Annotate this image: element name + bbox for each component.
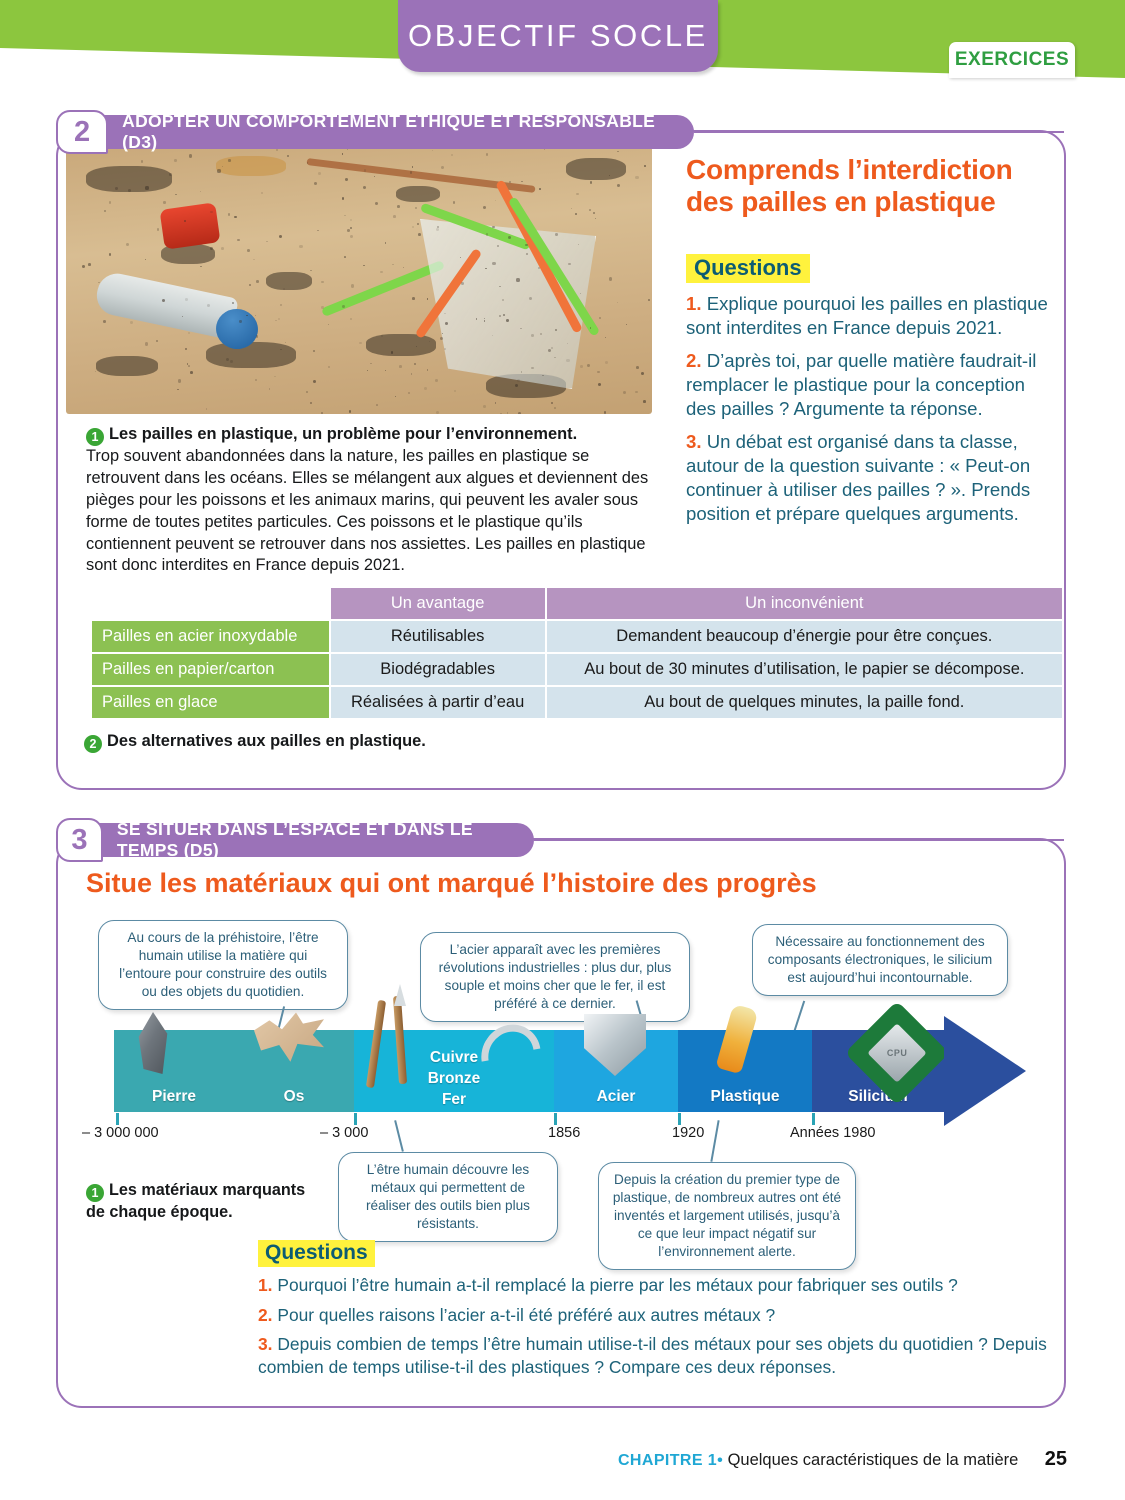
sand-speck xyxy=(427,298,429,300)
sand-speck xyxy=(206,408,207,409)
sand-speck xyxy=(126,243,129,246)
sand-speck xyxy=(508,236,511,239)
main-title-line-1: Comprends l’interdiction xyxy=(686,154,1013,185)
timeline-tick-3 xyxy=(554,1113,557,1125)
exercise-2-right-column: Comprends l’interdiction des pailles en … xyxy=(686,154,1056,535)
bubble-tail-3 xyxy=(793,1001,805,1034)
sand-speck xyxy=(554,407,556,409)
sand-speck xyxy=(587,364,590,367)
sand-speck xyxy=(349,410,351,412)
debris-3 xyxy=(566,158,626,180)
sand-speck xyxy=(363,265,364,266)
row-label: Pailles en papier/carton xyxy=(92,654,329,685)
sand-speck xyxy=(200,191,201,192)
bubble-acier: L’acier apparaît avec les premières révo… xyxy=(420,932,690,1022)
segment-label: Fer xyxy=(442,1091,466,1112)
segment-label: Os xyxy=(284,1088,305,1112)
sand-speck xyxy=(521,181,522,182)
stone-icon xyxy=(136,1012,170,1074)
debris-2 xyxy=(216,156,286,176)
row-avantage: Biodégradables xyxy=(331,654,545,685)
question-number: 3. xyxy=(686,431,702,452)
doc-number-badge: 2 xyxy=(84,735,102,753)
sand-speck xyxy=(380,271,383,274)
sand-speck xyxy=(635,391,638,394)
exercise-2-title: ADOPTER UN COMPORTEMENT ÉTHIQUE ET RESPO… xyxy=(122,111,674,153)
timeline-segment-acier: Acier xyxy=(554,1030,678,1112)
question-text: Depuis combien de temps l’être humain ut… xyxy=(258,1334,1047,1377)
sand-speck xyxy=(109,201,111,203)
sand-speck xyxy=(444,313,446,315)
sand-speck xyxy=(539,188,541,190)
sand-speck xyxy=(317,230,318,231)
sand-speck xyxy=(500,413,501,414)
sand-speck xyxy=(200,266,202,268)
sand-speck xyxy=(495,200,496,201)
sand-speck xyxy=(299,245,302,248)
sand-speck xyxy=(217,169,220,172)
exercise-3-title-pill: SE SITUER DANS L’ESPACE ET DANS LE TEMPS… xyxy=(95,823,534,857)
sand-speck xyxy=(410,171,412,173)
table-header-avantage: Un avantage xyxy=(331,588,545,619)
sand-speck xyxy=(551,402,553,404)
sand-speck xyxy=(306,391,308,393)
sand-speck xyxy=(279,235,282,238)
sand-speck xyxy=(595,218,596,219)
sand-speck xyxy=(648,299,650,301)
sand-speck xyxy=(210,247,213,250)
sand-speck xyxy=(393,215,396,218)
sand-speck xyxy=(623,391,626,394)
segment-label: Acier xyxy=(597,1088,636,1112)
sand-speck xyxy=(104,210,107,213)
sand-speck xyxy=(440,337,443,340)
sand-speck xyxy=(344,256,346,258)
timeline-tick-4 xyxy=(678,1113,681,1125)
sand-speck xyxy=(424,387,427,390)
sand-speck xyxy=(256,335,259,338)
sand-speck xyxy=(314,182,317,185)
sand-speck xyxy=(222,166,223,167)
top-banner: OBJECTIF SOCLE EXERCICES xyxy=(0,0,1125,92)
sand-speck xyxy=(156,340,158,342)
doc1-line-1: Les matériaux marquants xyxy=(109,1181,305,1199)
doc1-lead: Les pailles en plastique, un problème po… xyxy=(109,425,577,443)
doc1-line-2: de chaque époque. xyxy=(86,1203,233,1221)
timeline-tick-2 xyxy=(354,1113,357,1125)
sand-speck xyxy=(414,363,416,365)
sand-speck xyxy=(555,233,558,236)
exercise-3-header-rule xyxy=(534,839,1064,842)
sand-speck xyxy=(507,412,509,414)
sand-speck xyxy=(441,166,444,169)
sand-speck xyxy=(239,320,241,322)
sand-speck xyxy=(436,411,439,414)
timeline-date-3: 1856 xyxy=(548,1125,580,1141)
question-number: 2. xyxy=(686,350,702,371)
sand-speck xyxy=(307,162,308,163)
sand-speck xyxy=(486,153,489,156)
exercise-3-questions-block: Questions 1. Pourquoi l’être humain a-t-… xyxy=(258,1240,1048,1386)
question-number: 1. xyxy=(258,1275,273,1295)
sand-speck xyxy=(255,379,257,381)
sand-speck xyxy=(185,348,186,349)
sand-speck xyxy=(483,405,486,408)
question-number: 1. xyxy=(686,293,702,314)
sand-speck xyxy=(427,369,429,371)
sand-speck xyxy=(580,365,583,368)
sand-speck xyxy=(350,235,353,238)
sand-speck xyxy=(391,351,394,354)
sand-speck xyxy=(590,181,592,183)
green-straw-1 xyxy=(321,260,445,317)
sand-speck xyxy=(157,228,159,230)
sand-speck xyxy=(318,172,321,175)
sand-speck xyxy=(237,239,240,242)
sand-speck xyxy=(359,342,361,344)
sand-speck xyxy=(321,281,323,283)
sand-speck xyxy=(175,194,176,195)
sand-speck xyxy=(604,411,606,413)
footer-chapter: CHAPITRE 1 xyxy=(618,1452,717,1469)
sand-speck xyxy=(495,402,497,404)
questions-label-2: Questions xyxy=(686,254,810,283)
sand-speck xyxy=(328,324,329,325)
sand-speck xyxy=(617,302,618,303)
red-bottle-cap xyxy=(159,202,220,249)
sand-speck xyxy=(342,197,344,199)
bone-icon xyxy=(254,1008,324,1064)
question-item: 1. Explique pourquoi les pailles en plas… xyxy=(686,292,1056,340)
sand-speck xyxy=(109,253,111,255)
sand-speck xyxy=(566,359,569,362)
sand-speck xyxy=(499,286,500,287)
sand-speck xyxy=(605,361,608,364)
sand-speck xyxy=(185,298,188,301)
sand-speck xyxy=(392,264,393,265)
sand-speck xyxy=(287,155,289,157)
table-header-inconvenient: Un inconvénient xyxy=(547,588,1062,619)
bubble-metaux: L’être humain découvre les métaux qui pe… xyxy=(338,1152,558,1242)
spear-icon xyxy=(366,1000,386,1088)
sand-speck xyxy=(280,304,282,306)
exercise-3-questions: 1. Pourquoi l’être humain a-t-il remplac… xyxy=(258,1274,1048,1379)
bubble-prehistoire: Au cours de la préhistoire, l’être humai… xyxy=(98,920,348,1010)
sand-speck xyxy=(347,229,350,232)
debris-8 xyxy=(96,356,158,376)
sand-speck xyxy=(518,412,521,414)
table-row: Pailles en glace Réalisées à partir d’ea… xyxy=(92,687,1062,718)
sand-speck xyxy=(503,314,505,316)
main-title-line-2: des pailles en plastique xyxy=(686,186,996,217)
sand-speck xyxy=(221,247,224,250)
sand-speck xyxy=(397,205,400,208)
doc2-caption: 2Des alternatives aux pailles en plastiq… xyxy=(84,732,426,753)
sand-speck xyxy=(568,263,570,265)
question-text: Un débat est organisé dans ta classe, au… xyxy=(686,431,1030,524)
sand-speck xyxy=(321,412,323,414)
debris-4 xyxy=(396,186,440,202)
row-avantage: Réalisées à partir d’eau xyxy=(331,687,545,718)
doc1-caption-3: 1Les matériaux marquants de chaque époqu… xyxy=(86,1180,305,1223)
segment-label: Cuivre xyxy=(430,1049,478,1070)
timeline-date-4: 1920 xyxy=(672,1125,704,1141)
sand-speck xyxy=(599,317,601,319)
row-inconvenient: Au bout de 30 minutes d’utilisation, le … xyxy=(547,654,1062,685)
timeline-segment-plastique: Plastique xyxy=(678,1030,812,1112)
sand-speck xyxy=(115,187,118,190)
sand-speck xyxy=(82,265,85,268)
question-item: 2. D’après toi, par quelle matière faudr… xyxy=(686,349,1056,421)
sand-speck xyxy=(363,186,366,189)
sand-speck xyxy=(531,367,533,369)
sand-speck xyxy=(408,392,410,394)
sand-speck xyxy=(182,316,183,317)
footer-chapter-title: Quelques caractéristiques de la matière xyxy=(728,1451,1019,1469)
table-row: Pailles en acier inoxydable Réutilisable… xyxy=(92,621,1062,652)
sand-speck xyxy=(145,342,148,345)
sand-speck xyxy=(554,357,556,359)
sand-speck xyxy=(376,404,378,406)
sand-speck xyxy=(429,341,430,342)
sand-speck xyxy=(310,270,312,272)
materials-timeline: Au cours de la préhistoire, l’être humai… xyxy=(80,920,1040,1220)
doc-number-badge: 1 xyxy=(86,1184,104,1202)
spear-tip-icon xyxy=(394,984,406,1006)
exercise-3-main-title: Situe les matériaux qui ont marqué l’his… xyxy=(86,868,817,899)
doc1-body: Trop souvent abandonnées dans la nature,… xyxy=(86,447,648,574)
sand-speck xyxy=(285,342,286,343)
sand-speck xyxy=(188,332,190,334)
sand-speck xyxy=(435,379,438,382)
sand-speck xyxy=(174,159,176,161)
sand-speck xyxy=(141,160,144,163)
doc2-text: Des alternatives aux pailles en plastiqu… xyxy=(107,732,426,750)
question-item: 2. Pour quelles raisons l’acier a-t-il é… xyxy=(258,1304,1048,1327)
bubble-silicium: Nécessaire au fonctionnement des composa… xyxy=(752,924,1008,996)
question-number: 3. xyxy=(258,1334,273,1354)
sand-speck xyxy=(234,216,236,218)
steel-ingot-icon xyxy=(584,1014,646,1076)
segment-label: Pierre xyxy=(152,1088,196,1112)
sand-speck xyxy=(395,396,396,397)
sand-speck xyxy=(188,365,190,367)
sand-speck xyxy=(274,376,276,378)
segment-label: Bronze xyxy=(428,1070,481,1091)
sickle-icon xyxy=(469,1013,552,1097)
sand-speck xyxy=(255,315,256,316)
timeline-tick-5 xyxy=(812,1113,815,1125)
timeline-arrow-head xyxy=(944,1016,1026,1126)
objectif-socle-label: OBJECTIF SOCLE xyxy=(408,18,708,54)
table-header-row: Un avantage Un inconvénient xyxy=(92,588,1062,619)
sand-speck xyxy=(249,284,251,286)
timeline-segment-os: Os xyxy=(234,1030,354,1112)
sand-speck xyxy=(313,380,316,383)
exercise-2-title-pill: ADOPTER UN COMPORTEMENT ÉTHIQUE ET RESPO… xyxy=(100,115,694,149)
spear-icon-2 xyxy=(393,996,407,1084)
sand-speck xyxy=(451,154,453,156)
sand-speck xyxy=(483,206,486,209)
sand-speck xyxy=(531,334,534,337)
sand-speck xyxy=(130,321,133,324)
sand-speck xyxy=(367,370,368,371)
sand-speck xyxy=(370,363,372,365)
sand-speck xyxy=(418,233,421,236)
sand-speck xyxy=(636,366,639,369)
sand-speck xyxy=(345,178,348,181)
exercise-2-main-title: Comprends l’interdiction des pailles en … xyxy=(686,154,1056,218)
sand-speck xyxy=(375,202,378,205)
sand-speck xyxy=(184,220,186,222)
bubble-tail-4 xyxy=(394,1120,403,1151)
sand-speck xyxy=(88,263,91,266)
debris-7 xyxy=(206,342,296,368)
sand-speck xyxy=(189,154,192,157)
beach-litter-photo xyxy=(66,144,652,414)
sand-speck xyxy=(516,278,519,281)
sand-speck xyxy=(163,201,165,203)
sand-speck xyxy=(555,329,557,331)
cpu-die: CPU xyxy=(867,1023,926,1082)
sand-speck xyxy=(486,233,489,236)
questions-label-3: Questions xyxy=(258,1240,375,1267)
sand-speck xyxy=(145,186,148,189)
question-item: 1. Pourquoi l’être humain a-t-il remplac… xyxy=(258,1274,1048,1297)
sand-speck xyxy=(350,227,352,229)
exercise-3-card: 3 SE SITUER DANS L’ESPACE ET DANS LE TEM… xyxy=(56,838,1066,1408)
sand-speck xyxy=(344,215,346,217)
row-inconvenient: Au bout de quelques minutes, la paille f… xyxy=(547,687,1062,718)
exercise-3-title: SE SITUER DANS L’ESPACE ET DANS LE TEMPS… xyxy=(117,819,514,861)
sand-speck xyxy=(266,241,268,243)
sand-speck xyxy=(342,305,345,308)
sand-speck xyxy=(571,208,573,210)
sand-speck xyxy=(576,193,578,195)
table-row: Pailles en papier/carton Biodégradables … xyxy=(92,654,1062,685)
page-footer: CHAPITRE 1• Quelques caractéristiques de… xyxy=(0,1448,1125,1471)
sand-speck xyxy=(626,324,628,326)
table-corner-cell xyxy=(92,588,329,619)
sand-speck xyxy=(145,259,146,260)
timeline-date-1: – 3 000 000 xyxy=(82,1125,159,1141)
sand-speck xyxy=(283,288,285,290)
sand-speck xyxy=(605,337,606,338)
sand-speck xyxy=(617,184,620,187)
exercise-2-number: 2 xyxy=(56,110,108,154)
exercices-label: EXERCICES xyxy=(955,49,1069,71)
sand-speck xyxy=(551,347,553,349)
exercise-3-number: 3 xyxy=(56,818,103,862)
sand-speck xyxy=(412,297,415,300)
doc1-caption: 1Les pailles en plastique, un problème p… xyxy=(86,424,656,577)
sand-speck xyxy=(385,370,386,371)
objectif-socle-tab: OBJECTIF SOCLE xyxy=(398,0,718,72)
alternatives-table: Un avantage Un inconvénient Pailles en a… xyxy=(90,586,1064,720)
bubble-tail-5 xyxy=(710,1120,719,1162)
question-text: Pourquoi l’être humain a-t-il remplacé l… xyxy=(277,1275,958,1295)
question-number: 2. xyxy=(258,1305,273,1325)
sand-speck xyxy=(609,277,612,280)
footer-separator: • xyxy=(717,1452,723,1469)
sand-speck xyxy=(635,176,638,179)
sand-speck xyxy=(403,267,404,268)
row-inconvenient: Demandent beaucoup d’énergie pour être c… xyxy=(547,621,1062,652)
exercise-3-header: 3 SE SITUER DANS L’ESPACE ET DANS LE TEM… xyxy=(56,818,1064,862)
timeline-date-5: Années 1980 xyxy=(790,1125,875,1141)
sand-speck xyxy=(256,280,259,283)
sand-speck xyxy=(476,318,478,320)
timeline-date-2: – 3 000 xyxy=(320,1125,368,1141)
exercices-tab[interactable]: EXERCICES xyxy=(949,42,1075,78)
sand-speck xyxy=(350,318,352,320)
sand-speck xyxy=(95,371,96,372)
sand-speck xyxy=(177,389,179,391)
question-text: Pour quelles raisons l’acier a-t-il été … xyxy=(277,1305,775,1325)
sand-speck xyxy=(190,371,193,374)
row-label: Pailles en glace xyxy=(92,687,329,718)
sand-speck xyxy=(644,165,646,167)
timeline-bar: Pierre Os Cuivre Bronze Fer Acier xyxy=(114,1030,944,1112)
sand-speck xyxy=(589,209,591,211)
sand-speck xyxy=(497,245,499,247)
sand-speck xyxy=(385,242,387,244)
sand-speck xyxy=(310,402,312,404)
sand-speck xyxy=(399,365,402,368)
sand-speck xyxy=(328,366,330,368)
sand-speck xyxy=(411,373,413,375)
sand-speck xyxy=(641,372,644,375)
sand-speck xyxy=(417,223,419,225)
sand-speck xyxy=(128,189,131,192)
exercise-2-questions: 1. Explique pourquoi les pailles en plas… xyxy=(686,292,1056,526)
sand-speck xyxy=(275,320,277,322)
sand-speck xyxy=(643,400,646,403)
sand-speck xyxy=(350,219,352,221)
sand-speck xyxy=(351,284,354,287)
sand-speck xyxy=(253,259,254,260)
sand-speck xyxy=(178,379,181,382)
debris-6 xyxy=(266,272,312,290)
sand-speck xyxy=(247,249,250,252)
debris-9 xyxy=(366,334,436,356)
row-label: Pailles en acier inoxydable xyxy=(92,621,329,652)
sand-speck xyxy=(278,318,281,321)
segment-label: Plastique xyxy=(711,1088,780,1112)
sand-speck xyxy=(575,213,577,215)
sand-speck xyxy=(593,212,595,214)
sand-speck xyxy=(228,213,231,216)
cpu-label: CPU xyxy=(887,1048,908,1058)
row-avantage: Réutilisables xyxy=(331,621,545,652)
page-number: 25 xyxy=(1045,1448,1067,1470)
sand-speck xyxy=(412,166,414,168)
sand-speck xyxy=(453,201,455,203)
exercise-2-header-rule xyxy=(694,131,1064,134)
sand-speck xyxy=(313,350,315,352)
sand-speck xyxy=(321,306,323,308)
question-text: Explique pourquoi les pailles en plastiq… xyxy=(686,293,1048,338)
doc-number-badge: 1 xyxy=(86,428,104,446)
timeline-segment-pierre: Pierre xyxy=(114,1030,234,1112)
timeline-segment-cuivre-bronze-fer: Cuivre Bronze Fer xyxy=(354,1030,554,1112)
timeline-segment-silicium: CPU Silicium xyxy=(812,1030,944,1112)
sand-speck xyxy=(412,226,414,228)
sand-speck xyxy=(454,390,457,393)
question-item: 3. Depuis combien de temps l’être humain… xyxy=(258,1333,1048,1378)
sand-speck xyxy=(342,153,344,155)
sand-speck xyxy=(499,315,500,316)
